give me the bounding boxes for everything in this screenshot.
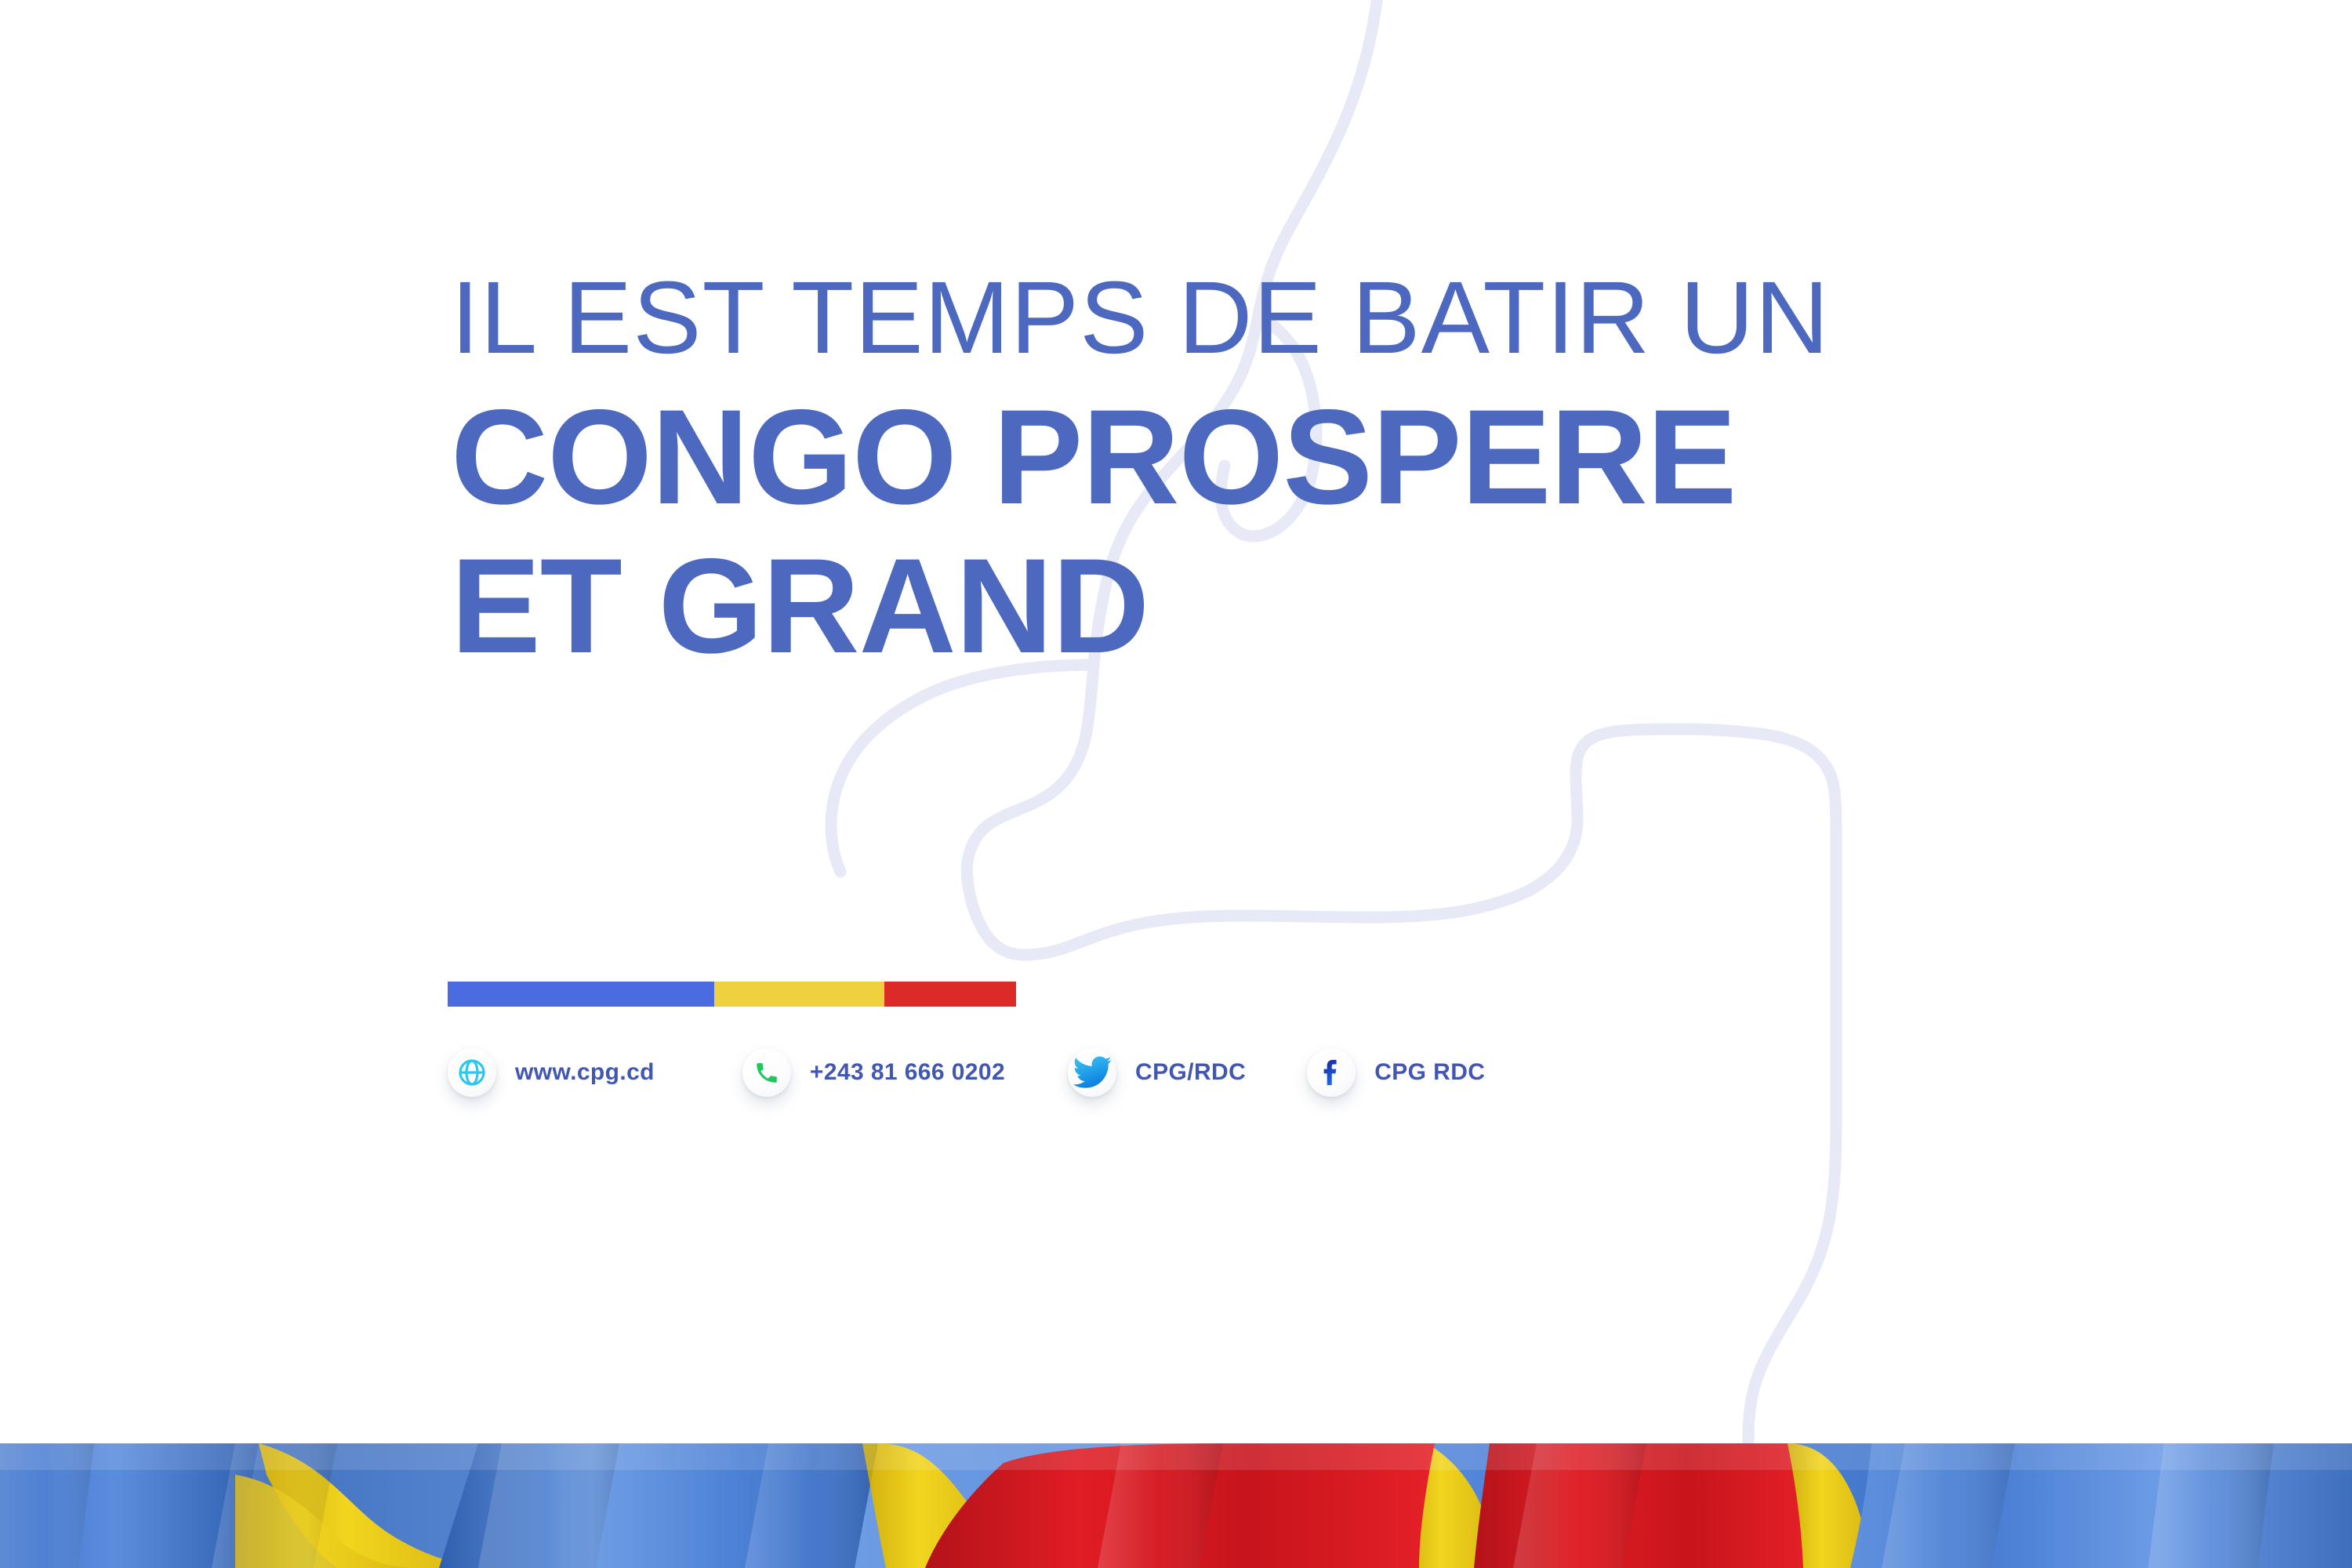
contact-label-website: www.cpg.cd	[515, 1059, 655, 1086]
twitter-icon	[1068, 1048, 1116, 1097]
drc-flag-rule	[448, 982, 1016, 1007]
contact-label-twitter: CPG/RDC	[1135, 1059, 1246, 1086]
contact-item-website[interactable]: www.cpg.cd	[448, 1048, 655, 1097]
globe-icon	[448, 1048, 496, 1097]
contact-label-facebook: CPG RDC	[1374, 1059, 1485, 1086]
poster-canvas: IL EST TEMPS DE BATIR UN CONGO PROSPERE …	[0, 0, 2352, 1568]
phone-icon	[742, 1048, 791, 1097]
headline-line-3: ET GRAND	[451, 536, 2113, 676]
contact-item-facebook[interactable]: CPG RDC	[1307, 1048, 1485, 1097]
flag-rule-segment-red	[884, 982, 1016, 1007]
contact-label-phone: +243 81 666 0202	[810, 1059, 1005, 1086]
flag-rule-segment-blue	[448, 982, 714, 1007]
headline-line-2: CONGO PROSPERE	[451, 387, 2113, 527]
contact-item-phone[interactable]: +243 81 666 0202	[742, 1048, 1005, 1097]
page-title: IL EST TEMPS DE BATIR UN CONGO PROSPERE …	[451, 259, 2113, 676]
drc-flag-photo-band	[0, 1443, 2352, 1568]
contact-item-twitter[interactable]: CPG/RDC	[1068, 1048, 1246, 1097]
facebook-icon	[1307, 1048, 1356, 1097]
contact-row: www.cpg.cd +243 81 666 0202	[448, 1048, 1485, 1097]
headline-line-1: IL EST TEMPS DE BATIR UN	[451, 259, 2113, 376]
flag-rule-segment-yellow	[714, 982, 884, 1007]
drc-map-outline-icon	[0, 0, 2352, 1568]
